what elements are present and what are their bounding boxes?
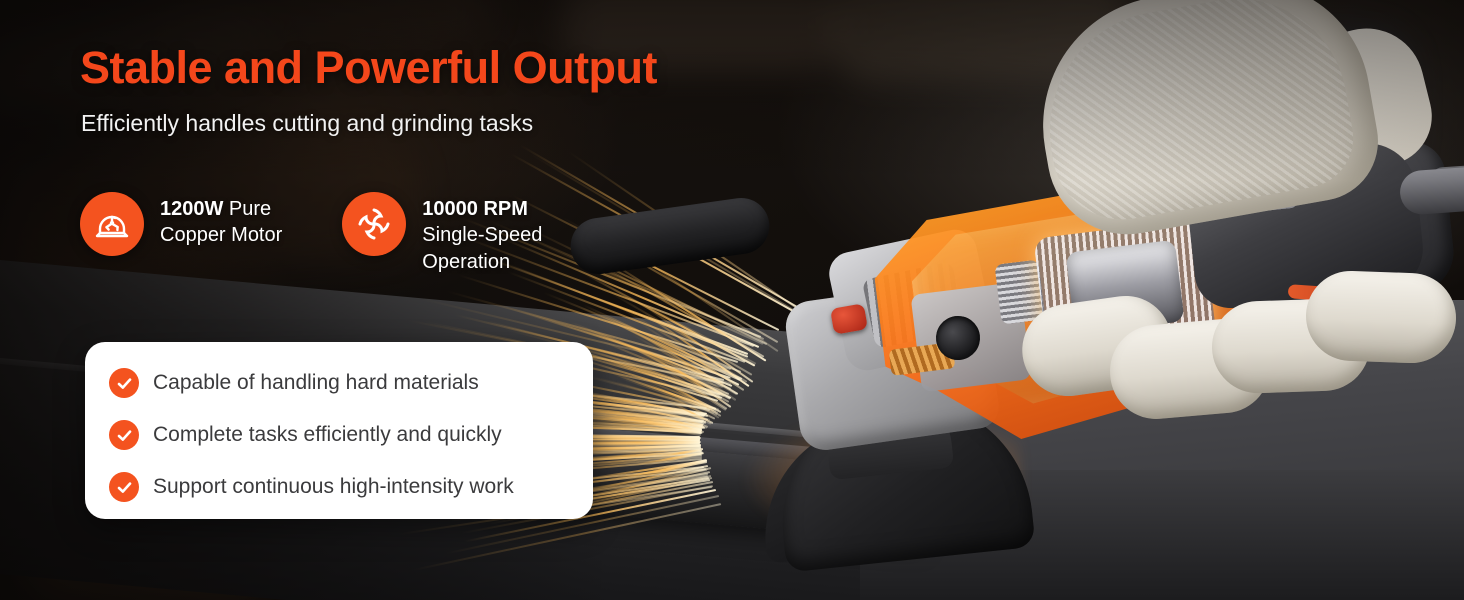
spec-motor-unit: Pure bbox=[223, 198, 271, 220]
list-item-label: Complete tasks efficiently and quickly bbox=[153, 423, 502, 447]
page-subtitle: Efficiently handles cutting and grinding… bbox=[81, 110, 533, 137]
benefits-card: Capable of handling hard materials Compl… bbox=[85, 342, 593, 519]
spec-motor-line2: Copper Motor bbox=[160, 222, 282, 248]
spec-rpm-value: 10000 RPM bbox=[422, 196, 542, 222]
fan-rotor-icon bbox=[342, 192, 406, 256]
list-item: Complete tasks efficiently and quickly bbox=[109, 420, 593, 450]
list-item-label: Support continuous high-intensity work bbox=[153, 475, 514, 499]
spec-rpm-line3: Operation bbox=[422, 249, 542, 275]
spec-badge-motor: 1200W Pure Copper Motor bbox=[80, 192, 282, 256]
list-item-label: Capable of handling hard materials bbox=[153, 371, 479, 395]
spec-badge-rpm: 10000 RPM Single-Speed Operation bbox=[342, 192, 542, 275]
spec-badge-rpm-label: 10000 RPM Single-Speed Operation bbox=[422, 192, 542, 275]
motor-icon bbox=[80, 192, 144, 256]
spec-rpm-line2: Single-Speed bbox=[422, 222, 542, 248]
list-item: Support continuous high-intensity work bbox=[109, 472, 593, 502]
spec-badge-motor-label: 1200W Pure Copper Motor bbox=[160, 192, 282, 249]
check-icon bbox=[109, 368, 139, 398]
check-icon bbox=[109, 420, 139, 450]
banner-content: Stable and Powerful Output Efficiently h… bbox=[0, 0, 1464, 600]
check-icon bbox=[109, 472, 139, 502]
spec-badge-list: 1200W Pure Copper Motor 10000 R bbox=[80, 192, 542, 275]
product-feature-banner: Stable and Powerful Output Efficiently h… bbox=[0, 0, 1464, 600]
list-item: Capable of handling hard materials bbox=[109, 368, 593, 398]
page-title: Stable and Powerful Output bbox=[80, 42, 657, 94]
spec-motor-value: 1200W bbox=[160, 198, 223, 220]
